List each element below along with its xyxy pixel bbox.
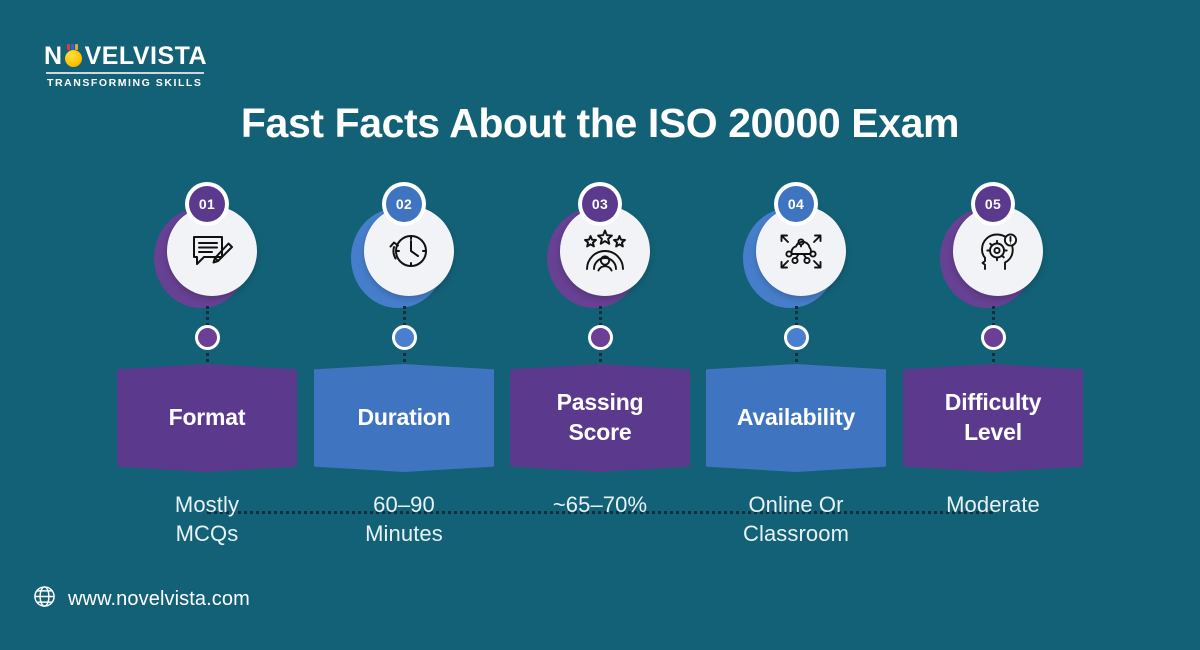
timeline-node	[195, 325, 220, 350]
logo-divider	[46, 72, 204, 74]
logo-pins	[67, 44, 81, 50]
step-number-badge: 02	[382, 182, 426, 226]
timeline-step: 03 PassingScore ~65–70%	[502, 178, 698, 318]
step-number-badge: 05	[971, 182, 1015, 226]
step-number: 04	[778, 186, 814, 222]
step-banner[interactable]: Duration	[314, 364, 494, 472]
timeline-step: 04 Availability Online OrClassroom	[698, 178, 894, 318]
step-icon-cluster: 05	[895, 178, 1091, 318]
timeline-step: 02 Duration 60–90Minutes	[306, 178, 502, 318]
step-label: PassingScore	[557, 388, 644, 448]
step-icon-cluster: 01	[109, 178, 305, 318]
footer: www.novelvista.com	[32, 584, 250, 614]
logo-text-part1: N	[44, 44, 63, 69]
logo-tagline: TRANSFORMING SKILLS	[47, 77, 214, 89]
step-label: Duration	[358, 403, 451, 433]
page-title: Fast Facts About the ISO 20000 Exam	[0, 100, 1200, 147]
step-number: 05	[975, 186, 1011, 222]
timeline-step: 05 DifficultyLevel Moderate	[895, 178, 1091, 318]
timeline-node	[392, 325, 417, 350]
step-number: 03	[582, 186, 618, 222]
timeline-step: 01 Format MostlyMCQs	[109, 178, 305, 318]
infographic-timeline: 01 Format MostlyMCQs 02	[0, 178, 1200, 578]
logo-text-part2: VELVISTA	[85, 44, 208, 69]
step-label: Availability	[737, 403, 855, 433]
brand-logo: N VELVISTA TRANSFORMING SKILLS	[44, 44, 214, 89]
step-number: 01	[189, 186, 225, 222]
step-label: DifficultyLevel	[945, 388, 1041, 448]
step-banner[interactable]: Availability	[706, 364, 886, 472]
footer-url[interactable]: www.novelvista.com	[68, 588, 250, 611]
step-caption: Moderate	[888, 490, 1098, 519]
step-icon-cluster: 03	[502, 178, 698, 318]
step-number-badge: 01	[185, 182, 229, 226]
sun-ball-icon	[64, 47, 84, 67]
step-caption: Online OrClassroom	[691, 490, 901, 548]
timeline-node	[588, 325, 613, 350]
step-caption: ~65–70%	[495, 490, 705, 519]
step-banner[interactable]: Format	[117, 364, 297, 472]
globe-icon	[32, 584, 57, 614]
timeline-node	[784, 325, 809, 350]
step-number-badge: 03	[578, 182, 622, 226]
step-number: 02	[386, 186, 422, 222]
step-banner[interactable]: DifficultyLevel	[903, 364, 1083, 472]
step-label: Format	[169, 403, 246, 433]
timeline-node	[981, 325, 1006, 350]
step-icon-cluster: 02	[306, 178, 502, 318]
step-caption: MostlyMCQs	[102, 490, 312, 548]
logo-wordmark: N VELVISTA	[44, 44, 214, 69]
step-banner[interactable]: PassingScore	[510, 364, 690, 472]
step-number-badge: 04	[774, 182, 818, 226]
step-icon-cluster: 04	[698, 178, 894, 318]
step-caption: 60–90Minutes	[299, 490, 509, 548]
